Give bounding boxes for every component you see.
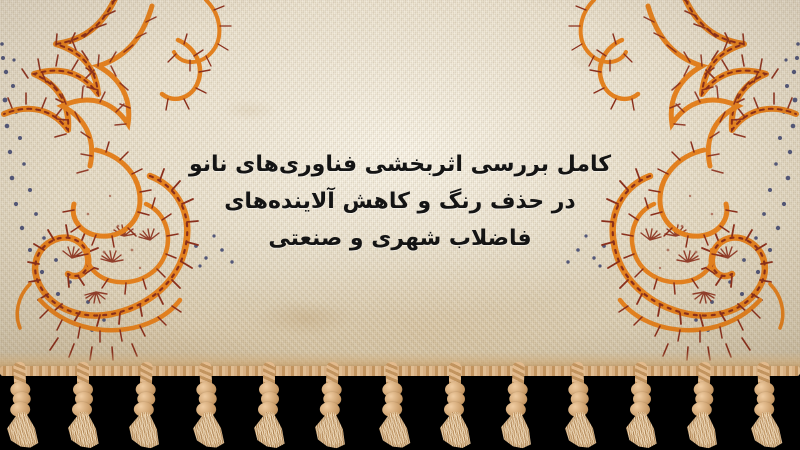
tassel	[684, 361, 722, 448]
tassel	[126, 361, 164, 448]
tassel-brush-highlight	[128, 413, 159, 446]
tassel	[498, 361, 536, 448]
slide-title: کامل بررسی اثربخشی فناوری‌های نانو در حذ…	[170, 146, 630, 257]
tassel	[374, 361, 412, 448]
tassel	[2, 361, 40, 448]
tassel-brush-highlight	[440, 414, 470, 446]
title-line-3: فاضلاب شهری و صنعتی	[170, 220, 630, 257]
slide-canvas: کامل بررسی اثربخشی فناوری‌های نانو در حذ…	[0, 0, 800, 450]
tassel-brush-highlight	[378, 413, 409, 446]
tassel	[624, 362, 658, 448]
tassel	[252, 362, 286, 448]
tassel-brush-highlight	[686, 413, 717, 446]
tassel-brush-highlight	[6, 413, 37, 446]
tassel-brush-highlight	[626, 414, 656, 446]
tassel	[312, 361, 350, 448]
tassel	[438, 362, 472, 448]
tassel-brush-highlight	[750, 413, 781, 446]
knotted-tassel-fringe	[0, 362, 800, 450]
tassel-brush-highlight	[192, 413, 223, 446]
tassel	[188, 361, 226, 448]
tassel-brush-highlight	[254, 414, 284, 446]
tassel-brush-highlight	[314, 413, 345, 446]
tassel	[746, 361, 784, 448]
tassel	[560, 361, 598, 448]
tassel-brush-highlight	[564, 413, 595, 446]
title-line-1: کامل بررسی اثربخشی فناوری‌های نانو	[170, 146, 630, 183]
tassel	[66, 362, 100, 448]
tassel-brush-highlight	[68, 414, 98, 446]
tassel-brush-highlight	[500, 413, 531, 446]
title-line-2: در حذف رنگ و کاهش آلاینده‌های	[170, 183, 630, 220]
